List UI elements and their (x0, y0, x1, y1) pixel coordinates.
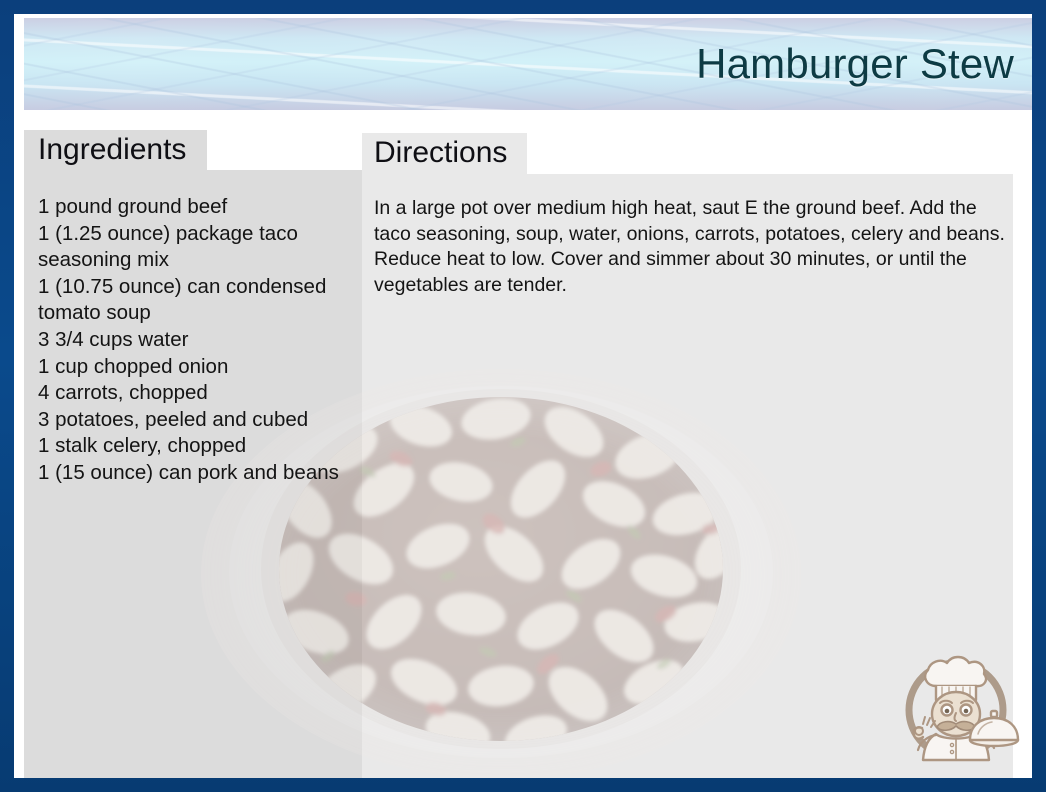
list-item: 3 potatoes, peeled and cubed (38, 407, 368, 434)
list-item: 1 cup chopped onion (38, 354, 368, 381)
page-sheet: Hamburger Stew (14, 14, 1032, 778)
list-item: 1 pound ground beef (38, 194, 368, 221)
list-item: 4 carrots, chopped (38, 380, 368, 407)
page-title: Hamburger Stew (696, 40, 1014, 88)
list-item: 1 (1.25 ounce) package taco seasoning mi… (38, 221, 368, 274)
ingredients-heading: Ingredients (38, 133, 186, 167)
directions-heading: Directions (374, 136, 507, 170)
directions-body-text: In a large pot over medium high heat, sa… (374, 196, 1014, 298)
list-item: 1 (10.75 ounce) can condensed tomato sou… (38, 274, 368, 327)
chef-mascot-logo (892, 642, 1020, 770)
ingredients-list: 1 pound ground beef 1 (1.25 ounce) packa… (38, 194, 368, 487)
list-item: 1 (15 ounce) can pork and beans (38, 460, 368, 487)
recipe-card: Hamburger Stew (0, 0, 1046, 792)
list-item: 3 3/4 cups water (38, 327, 368, 354)
header-banner: Hamburger Stew (24, 18, 1032, 110)
list-item: 1 stalk celery, chopped (38, 433, 368, 460)
